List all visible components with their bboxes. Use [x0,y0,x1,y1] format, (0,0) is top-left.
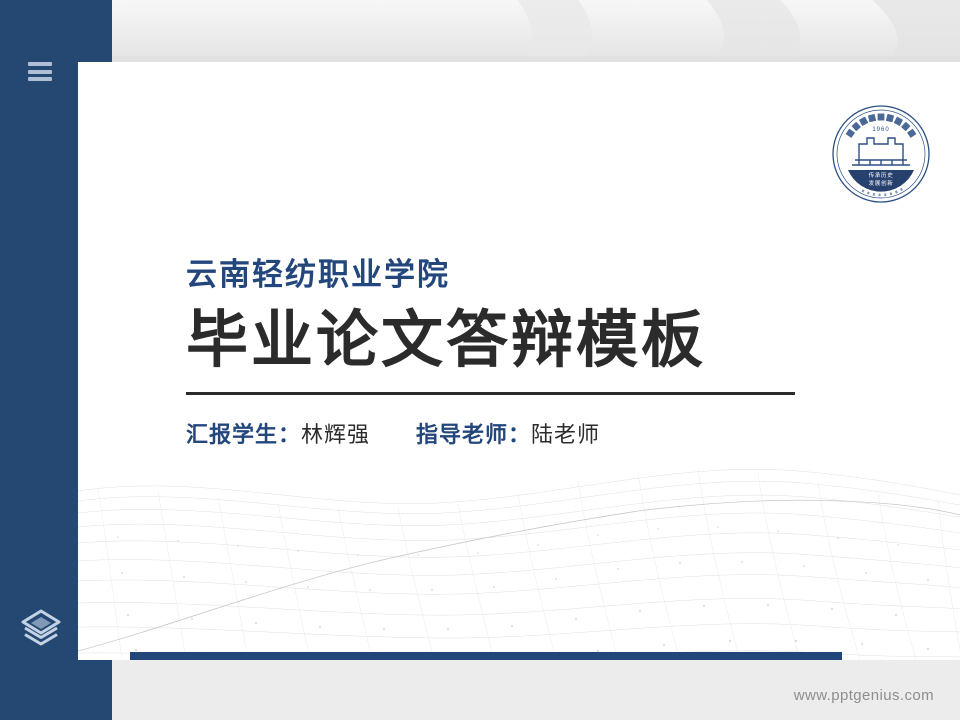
background-swoosh-band [112,0,960,62]
credits-line: 汇报学生：林辉强指导老师：陆老师 [186,421,826,450]
page-title: 毕业论文答辩模板 [186,306,826,375]
svg-text:传承历史: 传承历史 [869,171,894,179]
hamburger-menu-icon[interactable] [28,62,52,81]
slide-card: 1960 传承历史 发展创新 [78,62,960,660]
hamburger-bar [28,70,52,74]
svg-text:发展创新: 发展创新 [869,179,894,187]
title-block: 云南轻纺职业学院 毕业论文答辩模板 汇报学生：林辉强指导老师：陆老师 [186,258,826,449]
card-bottom-accent-bar [130,652,842,660]
presentation-slide: 1960 传承历史 发展创新 [0,0,960,720]
mesh-wave-graphic [78,445,960,660]
school-name: 云南轻纺职业学院 [186,258,826,292]
footer-url: www.pptgenius.com [794,687,934,704]
student-name: 林辉强 [301,422,370,447]
advisor-name: 陆老师 [531,422,600,447]
title-divider [186,392,795,395]
card-inner: 1960 传承历史 发展创新 [78,62,960,660]
hamburger-bar [28,62,52,66]
hamburger-bar [28,77,52,81]
school-emblem-logo: 1960 传承历史 发展创新 [815,98,947,210]
student-label: 汇报学生： [186,422,301,447]
svg-text:1960: 1960 [872,127,889,133]
layers-icon[interactable] [17,603,65,651]
swoosh-graphic [112,0,960,62]
advisor-label: 指导老师： [416,422,531,447]
